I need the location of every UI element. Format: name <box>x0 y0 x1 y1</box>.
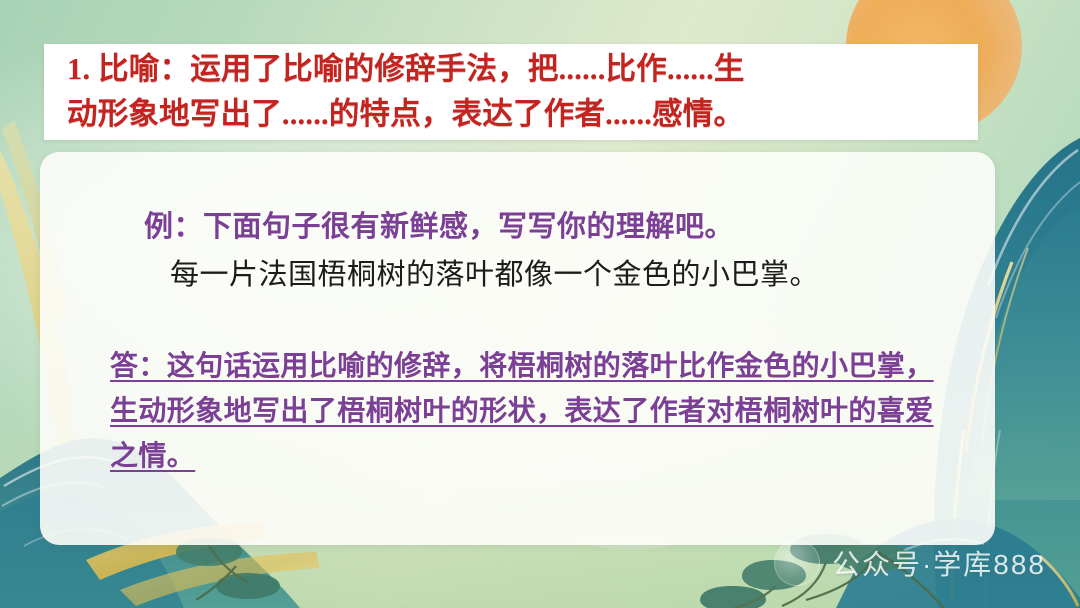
example-prompt: 例：下面句子很有新鲜感，写写你的理解吧。 <box>144 204 949 250</box>
answer-text: 答：这句话运用比喻的修辞，将梧桐树的落叶比作金色的小巴掌，生动形象地写出了梧桐树… <box>110 351 934 472</box>
slide-canvas: 1. 比喻：运用了比喻的修辞手法，把......比作......生 动形象地写出… <box>0 0 1080 608</box>
content-card-inner: 例：下面句子很有新鲜感，写写你的理解吧。 每一片法国梧桐树的落叶都像一个金色的小… <box>40 152 995 545</box>
pine-tree-decoration-left <box>176 538 280 600</box>
example-sentence: 每一片法国梧桐树的落叶都像一个金色的小巴掌。 <box>170 252 949 298</box>
watermark-text: 公众号·学库888 <box>832 543 1046 583</box>
content-card: 例：下面句子很有新鲜感，写写你的理解吧。 每一片法国梧桐树的落叶都像一个金色的小… <box>40 152 995 545</box>
watermark: 公众号·学库888 <box>774 540 1046 586</box>
title-banner: 1. 比喻：运用了比喻的修辞手法，把......比作......生 动形象地写出… <box>44 44 978 140</box>
channel-logo-icon <box>774 540 820 586</box>
answer-block: 答：这句话运用比喻的修辞，将梧桐树的落叶比作金色的小巴掌，生动形象地写出了梧桐树… <box>110 344 940 479</box>
pine-tree-decoration <box>700 534 944 608</box>
title-text: 1. 比喻：运用了比喻的修辞手法，把......比作......生 动形象地写出… <box>55 47 967 137</box>
